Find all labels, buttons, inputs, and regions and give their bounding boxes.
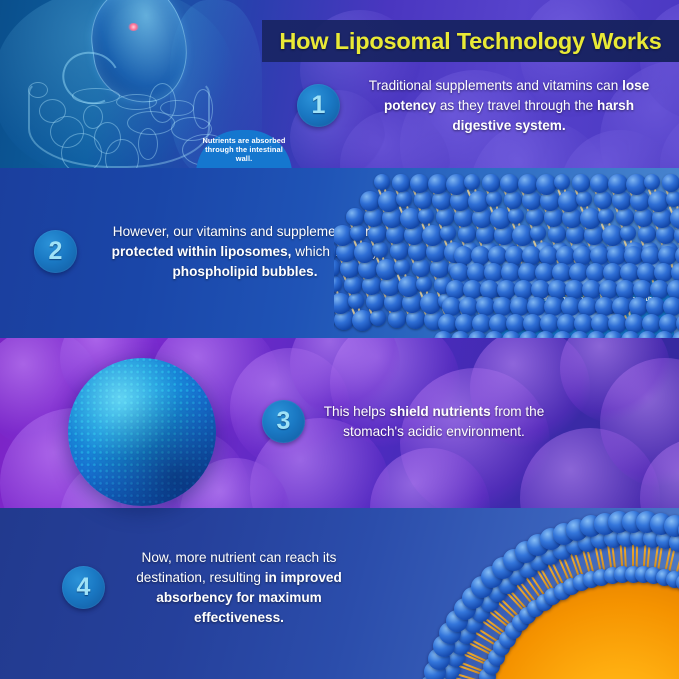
phospholipid-head-icon [412,259,430,277]
phospholipid-head-icon [386,225,405,244]
phospholipid-head-icon [384,293,403,312]
phospholipid-head-icon [590,174,609,193]
phospholipid-head-icon [394,259,410,275]
step-1-badge: 1 [297,84,340,127]
liposome-sphere-shading [68,358,216,506]
intestine-coil [72,88,120,104]
phospholipid-head-icon [486,191,502,207]
phospholipid-head-icon [526,208,544,226]
phospholipid-head-icon [430,259,449,278]
phospholipid-head-icon [464,174,480,190]
step-4-text: Now, more nutrient can reach its destina… [118,548,360,628]
callout-intestinal-wall-text: Nutrients are absorbed through the intes… [196,136,292,163]
phospholipid-head-icon [663,297,679,316]
step-4-number: 4 [77,575,91,600]
phospholipid-head-icon [370,310,386,326]
phospholipid-head-icon [416,276,432,292]
phospholipid-head-icon [598,208,614,224]
phospholipid-head-icon [366,293,384,311]
phospholipid-head-icon [554,174,570,190]
phospholipid-head-icon [572,174,590,192]
phospholipid-head-icon [458,225,476,243]
phospholipid-head-icon [638,225,656,243]
phospholipid-head-icon [362,276,381,295]
phospholipid-head-icon [616,208,634,226]
phospholipid-head-icon [662,174,679,192]
infographic-root: Nutrients are absorbed through the intes… [0,0,679,679]
phospholipid-head-icon [396,191,412,207]
phospholipid-head-icon [346,208,364,226]
phospholipid-head-icon [476,225,495,244]
phospholipid-head-icon [348,293,364,309]
phospholipid-head-icon [436,208,454,226]
liposome-cross-section-illustration [375,508,679,679]
phospholipid-head-icon [418,208,434,224]
step-1-text: Traditional supplements and vitamins can… [353,76,665,136]
phospholipid-head-icon [544,208,563,227]
phospholipid-head-icon [406,310,425,329]
title-bar: How Liposomal Technology Works [262,20,679,62]
page-title: How Liposomal Technology Works [279,28,661,55]
phospholipid-head-icon [634,208,653,227]
phospholipid-head-icon [432,191,451,210]
phospholipid-head-icon [428,174,448,194]
step-3-text: This helps shield nutrients from the sto… [318,402,550,442]
phospholipid-head-icon [522,191,541,210]
phospholipid-head-icon [340,259,359,278]
phospholipid-head-icon [576,191,592,207]
phospholipid-head-icon [594,191,612,209]
phospholipid-head-icon [612,191,631,210]
step-4: 4 Now, more nutrient can reach its desti… [62,548,362,628]
phospholipid-head-icon [392,174,410,192]
intestine-coil [28,82,48,98]
phospholipid-head-icon [454,208,473,227]
phospholipid-head-icon [548,225,566,243]
callout-intestinal-wall: Nutrients are absorbed through the intes… [196,130,292,168]
phospholipid-head-icon [390,242,408,260]
phospholipid-head-icon [518,174,538,194]
step-3-number: 3 [277,409,291,434]
phospholipid-head-icon [656,225,675,244]
phospholipid-head-icon [620,225,636,241]
phospholipid-head-icon [414,191,432,209]
phospholipid-head-icon [408,242,427,261]
phospholipid-head-icon [482,174,500,192]
stomach-highlight-icon [128,23,139,31]
step-4-badge: 4 [62,566,105,609]
step-3: 3 This helps shield nutrients from the s… [262,400,552,443]
phospholipid-head-icon [388,310,406,328]
phospholipid-head-icon [360,191,380,211]
phospholipid-head-icon [368,225,386,243]
phospholipid-head-icon [644,174,660,190]
phospholipid-head-icon [410,174,429,193]
step-2-badge: 2 [34,230,77,273]
intestine-coil [160,100,194,116]
phospholipid-head-icon [608,174,628,194]
phospholipid-bilayer-illustration [334,168,679,338]
phospholipid-head-icon [504,191,522,209]
phospholipid-head-icon [364,208,383,227]
phospholipid-head-icon [666,191,679,207]
phospholipid-head-icon [500,174,519,193]
step-3-badge: 3 [262,400,305,443]
phospholipid-head-icon [530,225,546,241]
phospholipid-head-icon [374,174,390,190]
phospholipid-head-icon [440,225,456,241]
phospholipid-head-icon [566,225,585,244]
intestine-coil [193,89,213,129]
intestine-coil [138,128,158,160]
intestine-coils [22,78,212,168]
phospholipid-head-icon [508,208,524,224]
phospholipid-head-icon [344,276,362,294]
step-1: 1 Traditional supplements and vitamins c… [297,76,667,136]
step-2-number: 2 [49,239,63,264]
step-1-number: 1 [312,93,326,118]
intestine-coil [105,139,139,168]
